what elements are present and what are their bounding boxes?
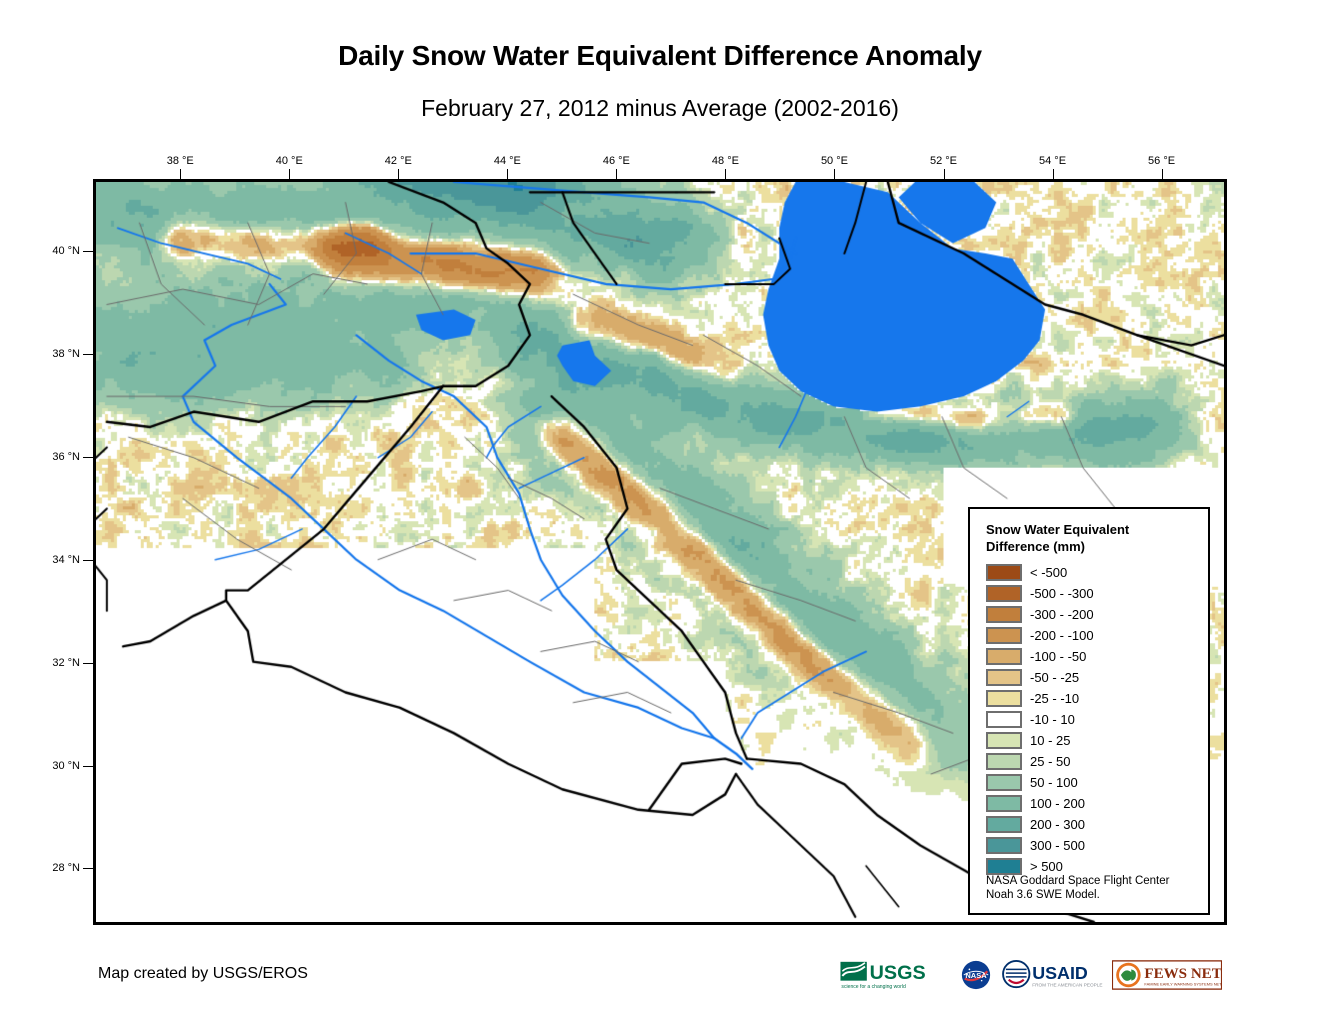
usaid-logo: USAID FROM THE AMERICAN PEOPLE: [1000, 959, 1104, 991]
legend-row: -25 - -10: [986, 688, 1208, 709]
legend-label: -25 - -10: [1030, 691, 1079, 706]
legend-swatch: [986, 711, 1022, 728]
legend-label: 100 - 200: [1030, 796, 1085, 811]
lat-tick-label: 28 °N: [28, 862, 80, 874]
page-title: Daily Snow Water Equivalent Difference A…: [0, 40, 1320, 72]
lat-tick-label: 32 °N: [28, 657, 80, 669]
legend-swatch: [986, 732, 1022, 749]
legend-label: 10 - 25: [1030, 733, 1070, 748]
lon-tick-mark: [1162, 169, 1163, 179]
svg-text:FEWS NET: FEWS NET: [1144, 966, 1221, 982]
legend-label: -200 - -100: [1030, 628, 1094, 643]
lat-tick-label: 34 °N: [28, 554, 80, 566]
legend-swatch: [986, 690, 1022, 707]
lon-tick-label: 56 °E: [1148, 155, 1175, 167]
lat-tick-mark: [83, 663, 93, 664]
legend-swatch: [986, 774, 1022, 791]
lat-tick-label: 30 °N: [28, 760, 80, 772]
lat-tick-label: 40 °N: [28, 245, 80, 257]
legend-row: 50 - 100: [986, 772, 1208, 793]
legend-panel: Snow Water Equivalent Difference (mm) < …: [968, 507, 1210, 915]
usgs-logo: USGS science for a changing world: [840, 959, 952, 991]
legend-label: > 500: [1030, 859, 1063, 874]
legend-swatch: [986, 585, 1022, 602]
legend-row: -200 - -100: [986, 625, 1208, 646]
legend-swatch: [986, 753, 1022, 770]
lon-tick-label: 40 °E: [276, 155, 303, 167]
legend-title: Snow Water Equivalent Difference (mm): [986, 521, 1191, 555]
lon-tick-label: 44 °E: [494, 155, 521, 167]
legend-label: 50 - 100: [1030, 775, 1078, 790]
legend-label: 200 - 300: [1030, 817, 1085, 832]
legend-row: -100 - -50: [986, 646, 1208, 667]
svg-text:FROM THE AMERICAN PEOPLE: FROM THE AMERICAN PEOPLE: [1032, 982, 1102, 987]
lon-tick-mark: [944, 169, 945, 179]
svg-text:USAID: USAID: [1032, 963, 1088, 983]
lon-tick-mark: [180, 169, 181, 179]
legend-row: -10 - 10: [986, 709, 1208, 730]
legend-source-note: NASA Goddard Space Flight Center Noah 3.…: [986, 874, 1169, 902]
legend-label: < -500: [1030, 565, 1067, 580]
legend-swatch: [986, 837, 1022, 854]
lon-tick-mark: [507, 169, 508, 179]
lat-tick-label: 38 °N: [28, 348, 80, 360]
lat-tick-label: 36 °N: [28, 451, 80, 463]
nasa-logo: NASA: [960, 959, 992, 991]
legend-row: 300 - 500: [986, 835, 1208, 856]
legend-label: 300 - 500: [1030, 838, 1085, 853]
legend-label: 25 - 50: [1030, 754, 1070, 769]
legend-row: -500 - -300: [986, 583, 1208, 604]
legend-swatch: [986, 669, 1022, 686]
legend-row: -300 - -200: [986, 604, 1208, 625]
lat-tick-mark: [83, 354, 93, 355]
legend-swatch: [986, 627, 1022, 644]
lat-tick-mark: [83, 251, 93, 252]
legend-class-list: < -500-500 - -300-300 - -200-200 - -100-…: [986, 562, 1208, 877]
lon-tick-mark: [398, 169, 399, 179]
lon-tick-label: 54 °E: [1039, 155, 1066, 167]
legend-label: -100 - -50: [1030, 649, 1086, 664]
legend-row: < -500: [986, 562, 1208, 583]
legend-swatch: [986, 795, 1022, 812]
legend-row: 25 - 50: [986, 751, 1208, 772]
lon-tick-mark: [289, 169, 290, 179]
lon-tick-label: 42 °E: [385, 155, 412, 167]
legend-swatch: [986, 606, 1022, 623]
legend-label: -500 - -300: [1030, 586, 1094, 601]
lon-tick-label: 38 °E: [167, 155, 194, 167]
lon-tick-mark: [616, 169, 617, 179]
lon-tick-label: 50 °E: [821, 155, 848, 167]
lon-tick-label: 46 °E: [603, 155, 630, 167]
legend-swatch: [986, 858, 1022, 875]
lon-tick-mark: [725, 169, 726, 179]
svg-text:NASA: NASA: [965, 971, 987, 980]
lat-tick-mark: [83, 457, 93, 458]
lat-tick-mark: [83, 766, 93, 767]
legend-title-line1: Snow Water Equivalent: [986, 522, 1129, 537]
legend-row: 200 - 300: [986, 814, 1208, 835]
agency-logo-strip: USGS science for a changing world NASA U…: [840, 957, 1222, 993]
lon-tick-mark: [1053, 169, 1054, 179]
svg-text:USGS: USGS: [870, 962, 926, 984]
legend-title-line2: Difference (mm): [986, 539, 1085, 554]
legend-row: -50 - -25: [986, 667, 1208, 688]
legend-label: -300 - -200: [1030, 607, 1094, 622]
legend-swatch: [986, 816, 1022, 833]
legend-label: -10 - 10: [1030, 712, 1075, 727]
lon-tick-mark: [834, 169, 835, 179]
map-credit: Map created by USGS/EROS: [98, 965, 308, 983]
legend-row: 100 - 200: [986, 793, 1208, 814]
legend-swatch: [986, 564, 1022, 581]
svg-text:FAMINE EARLY WARNING SYSTEMS N: FAMINE EARLY WARNING SYSTEMS NETWORK: [1144, 981, 1222, 986]
legend-label: -50 - -25: [1030, 670, 1079, 685]
fewsnet-logo: FEWS NET FAMINE EARLY WARNING SYSTEMS NE…: [1112, 959, 1222, 991]
map-page: Daily Snow Water Equivalent Difference A…: [0, 0, 1320, 1020]
lon-tick-label: 52 °E: [930, 155, 957, 167]
svg-text:science for a changing world: science for a changing world: [841, 984, 906, 990]
lon-tick-label: 48 °E: [712, 155, 739, 167]
legend-row: 10 - 25: [986, 730, 1208, 751]
lat-tick-mark: [83, 868, 93, 869]
legend-swatch: [986, 648, 1022, 665]
lat-tick-mark: [83, 560, 93, 561]
page-subtitle: February 27, 2012 minus Average (2002-20…: [0, 95, 1320, 122]
